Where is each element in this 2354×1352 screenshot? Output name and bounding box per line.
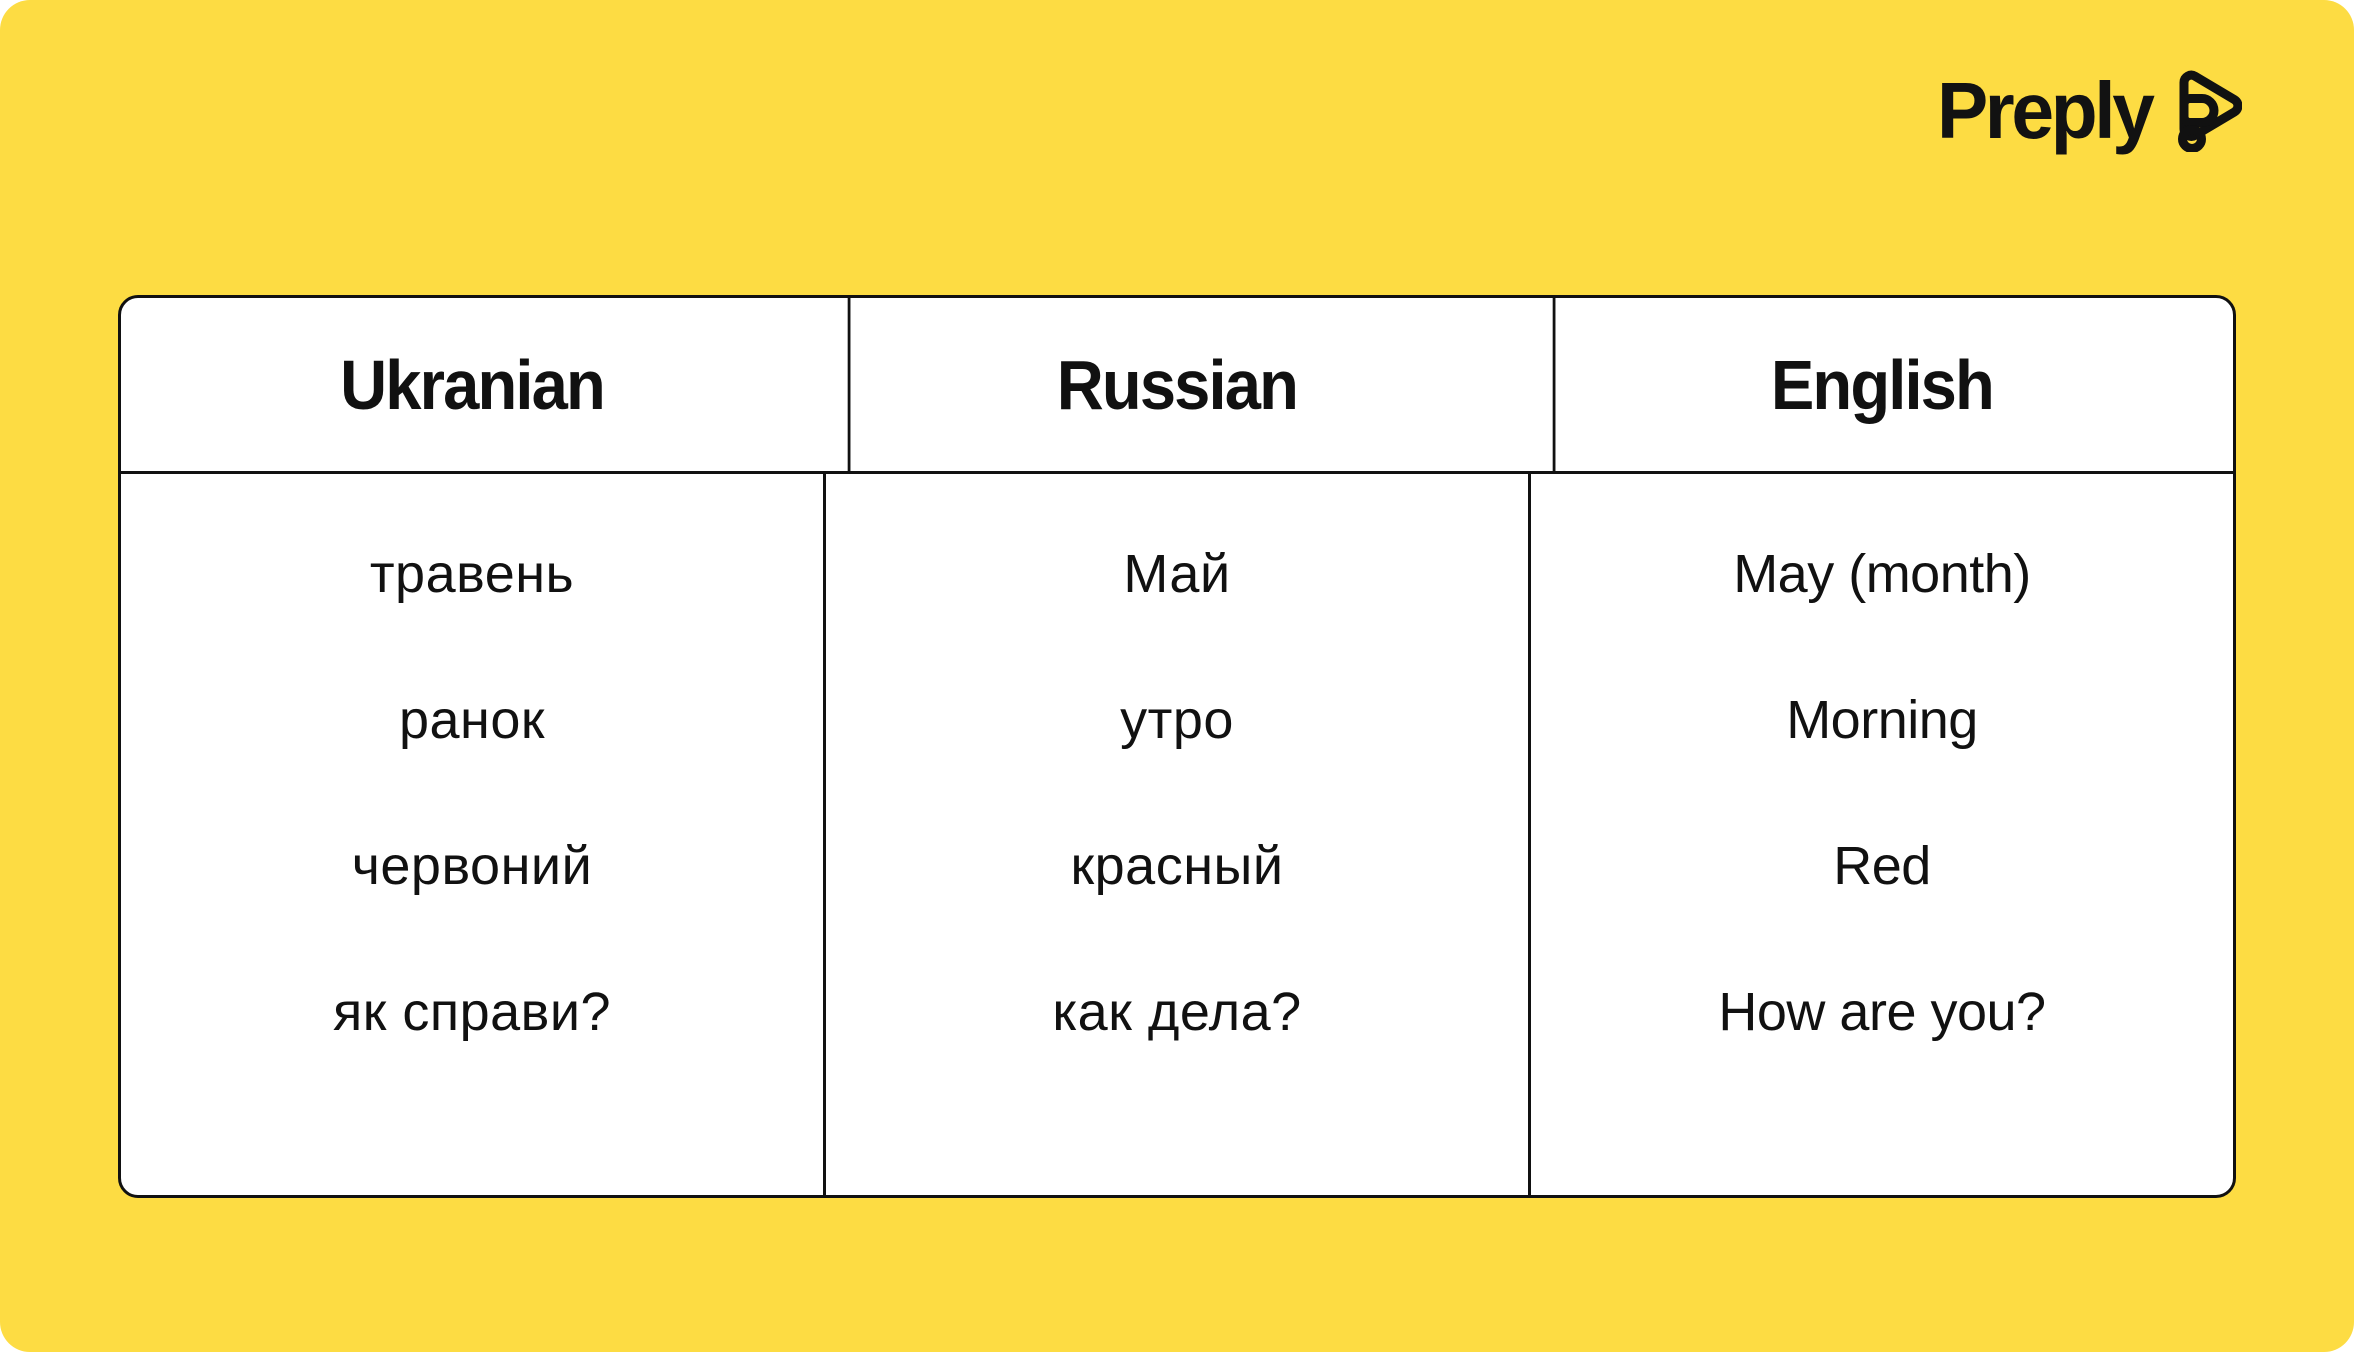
- column-header-russian: Russian: [848, 298, 1504, 471]
- preply-wordmark: Preply: [1937, 71, 2152, 151]
- poster-canvas: Preply Ukranian Russian English травень …: [0, 0, 2354, 1352]
- vocabulary-table: Ukranian Russian English травень ранок ч…: [118, 295, 2236, 1198]
- cell-english-4: How are you?: [1531, 940, 2233, 1086]
- cell-russian-4: как дела?: [826, 940, 1528, 1086]
- cell-ukranian-2: ранок: [121, 648, 823, 794]
- cell-ukranian-4: як справи?: [121, 940, 823, 1086]
- preply-play-bubble-icon: [2168, 70, 2242, 152]
- table-header-row: Ukranian Russian English: [121, 298, 2233, 474]
- cell-english-1: May (month): [1531, 502, 2233, 648]
- cell-russian-2: утро: [826, 648, 1528, 794]
- preply-logo[interactable]: Preply: [1928, 68, 2242, 154]
- column-header-english: English: [1553, 298, 2209, 471]
- column-header-ukranian: Ukranian: [146, 298, 799, 471]
- cell-ukranian-1: травень: [121, 502, 823, 648]
- cell-russian-1: Май: [826, 502, 1528, 648]
- column-ukranian: травень ранок червоний як справи?: [121, 474, 823, 1195]
- cell-english-3: Red: [1531, 794, 2233, 940]
- column-english: May (month) Morning Red How are you?: [1528, 474, 2233, 1195]
- column-russian: Май утро красный как дела?: [823, 474, 1528, 1195]
- cell-ukranian-3: червоний: [121, 794, 823, 940]
- cell-russian-3: красный: [826, 794, 1528, 940]
- table-body: травень ранок червоний як справи? Май ут…: [121, 474, 2233, 1195]
- cell-english-2: Morning: [1531, 648, 2233, 794]
